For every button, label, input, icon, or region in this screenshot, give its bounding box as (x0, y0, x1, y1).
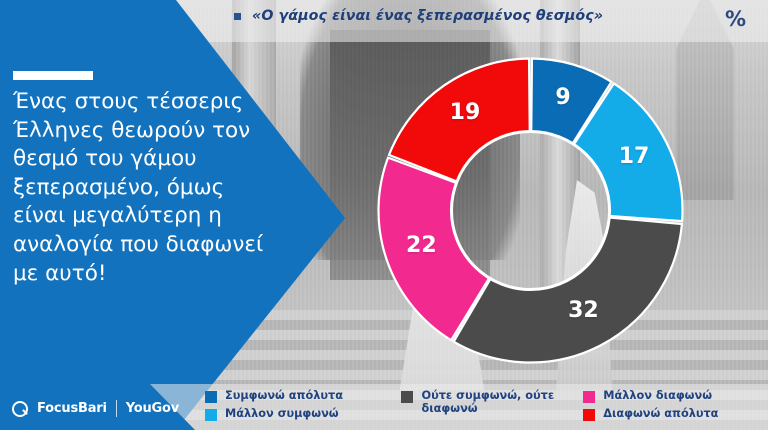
legend-label: Συμφωνώ απόλυτα (225, 389, 343, 402)
legend-item[interactable]: Συμφωνώ απόλυτα (205, 389, 401, 403)
legend-label: Μάλλον συμφωνώ (225, 407, 339, 420)
unit-symbol: % (725, 7, 746, 31)
page-title: «Ο γάμος είναι ένας ξεπερασμένος θεσμός» (252, 8, 603, 24)
infographic-slide: «Ο γάμος είναι ένας ξεπερασμένος θεσμός»… (0, 0, 768, 430)
legend-item[interactable]: Μάλλον συμφωνώ (205, 407, 401, 421)
slice-value-label: 32 (567, 298, 599, 323)
magnifier-icon (12, 401, 28, 417)
slice-value-label: 17 (618, 144, 650, 169)
brand-name: FocusBari (37, 401, 107, 416)
brand-divider (116, 400, 117, 417)
chart-legend: Συμφωνώ απόλυταΜάλλον συμφωνώΟύτε συμφων… (205, 384, 765, 426)
square-bullet-icon (234, 13, 241, 20)
header-title-row: «Ο γάμος είναι ένας ξεπερασμένος θεσμός» (234, 8, 603, 24)
legend-column: Μάλλον διαφωνώΔιαφωνώ απόλυτα (583, 384, 765, 421)
legend-color-swatch (583, 409, 595, 421)
legend-label: Ούτε συμφωνώ, ούτε διαφωνώ (421, 389, 583, 416)
legend-column: Συμφωνώ απόλυταΜάλλον συμφωνώ (205, 384, 401, 421)
legend-label: Μάλλον διαφωνώ (603, 389, 712, 402)
legend-color-swatch (401, 391, 413, 403)
donut-slice (454, 218, 682, 363)
lead-statement: Ένας στους τέσσερις Έλληνες θεωρούν τον … (13, 88, 278, 288)
legend-color-swatch (205, 409, 217, 421)
legend-color-swatch (205, 391, 217, 403)
legend-color-swatch (583, 391, 595, 403)
accent-rule (13, 71, 93, 80)
legend-item[interactable]: Ούτε συμφωνώ, ούτε διαφωνώ (401, 389, 583, 416)
legend-label: Διαφωνώ απόλυτα (603, 407, 718, 420)
donut-svg (373, 38, 688, 383)
legend-column: Ούτε συμφωνώ, ούτε διαφωνώ (401, 384, 583, 416)
legend-item[interactable]: Διαφωνώ απόλυτα (583, 407, 765, 421)
legend-item[interactable]: Μάλλον διαφωνώ (583, 389, 765, 403)
slice-value-label: 22 (405, 233, 437, 258)
brand-partner: YouGov (126, 401, 179, 416)
slice-value-label: 19 (449, 100, 481, 125)
slice-value-label: 9 (547, 85, 579, 110)
donut-chart: 917322219 (373, 38, 688, 383)
donut-inner-ring (451, 131, 609, 289)
brand-lockup: FocusBari YouGov (12, 400, 179, 417)
